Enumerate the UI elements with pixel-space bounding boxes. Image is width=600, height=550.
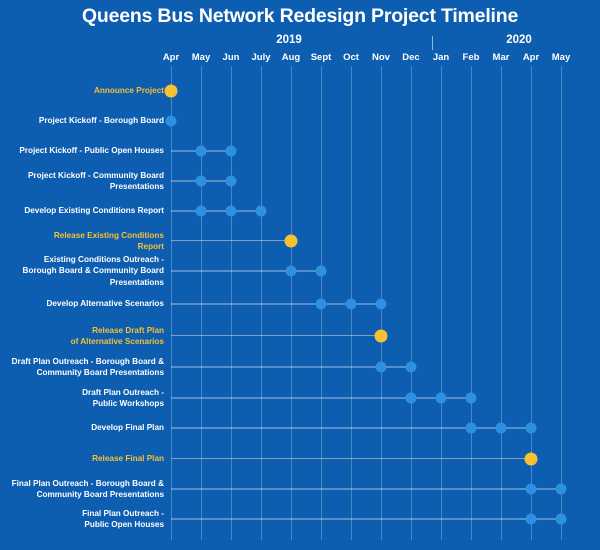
gridline-13 — [561, 66, 562, 540]
year-label-2020: 2020 — [506, 34, 532, 46]
row-connector — [171, 240, 291, 241]
row-connector — [171, 397, 471, 399]
gridline-12 — [531, 66, 532, 540]
task-dot[interactable] — [196, 146, 207, 157]
task-dot[interactable] — [526, 484, 537, 495]
task-dot[interactable] — [166, 116, 177, 127]
row-label: Draft Plan Outreach - Borough Board & Co… — [12, 356, 164, 379]
timeline-chart: Queens Bus Network Redesign Project Time… — [0, 0, 600, 550]
month-label-0: Apr — [163, 52, 179, 63]
task-dot[interactable] — [376, 362, 387, 373]
task-dot[interactable] — [556, 514, 567, 525]
year-label-2019: 2019 — [276, 34, 302, 46]
month-label-4: Aug — [282, 52, 300, 63]
row-connector — [171, 270, 321, 272]
task-dot[interactable] — [466, 423, 477, 434]
year-divider — [432, 36, 433, 50]
row-label: Develop Alternative Scenarios — [46, 298, 164, 310]
row-label: Final Plan Outreach - Public Open Houses — [82, 508, 164, 531]
row-label: Project Kickoff - Public Open Houses — [19, 145, 164, 157]
task-dot[interactable] — [376, 299, 387, 310]
row-connector — [171, 210, 261, 212]
task-dot[interactable] — [466, 393, 477, 404]
month-label-13: May — [552, 52, 570, 63]
task-dot[interactable] — [406, 362, 417, 373]
row-label: Release Existing Conditions Report — [54, 230, 164, 253]
gridline-8 — [411, 66, 412, 540]
milestone-dot[interactable] — [285, 235, 298, 248]
milestone-dot[interactable] — [165, 85, 178, 98]
task-dot[interactable] — [196, 206, 207, 217]
task-dot[interactable] — [436, 393, 447, 404]
row-label: Announce Project — [94, 85, 164, 97]
month-label-11: Mar — [493, 52, 510, 63]
task-dot[interactable] — [226, 176, 237, 187]
row-label: Project Kickoff - Community Board Presen… — [28, 170, 164, 193]
task-dot[interactable] — [406, 393, 417, 404]
row-label: Existing Conditions Outreach - Borough B… — [23, 254, 164, 289]
row-connector — [171, 427, 531, 429]
month-label-12: Apr — [523, 52, 539, 63]
task-dot[interactable] — [256, 206, 267, 217]
row-label: Release Final Plan — [92, 453, 164, 465]
task-dot[interactable] — [226, 146, 237, 157]
task-dot[interactable] — [226, 206, 237, 217]
chart-title: Queens Bus Network Redesign Project Time… — [0, 5, 600, 28]
row-connector — [171, 458, 531, 459]
month-label-2: Jun — [223, 52, 240, 63]
task-dot[interactable] — [526, 423, 537, 434]
milestone-dot[interactable] — [375, 330, 388, 343]
task-dot[interactable] — [316, 299, 327, 310]
task-dot[interactable] — [286, 266, 297, 277]
task-dot[interactable] — [196, 176, 207, 187]
task-dot[interactable] — [496, 423, 507, 434]
row-label: Project Kickoff - Borough Board — [39, 115, 164, 127]
row-label: Develop Final Plan — [91, 422, 164, 434]
row-label: Draft Plan Outreach - Public Workshops — [82, 387, 164, 410]
row-label: Develop Existing Conditions Report — [24, 205, 164, 217]
month-label-10: Feb — [463, 52, 480, 63]
row-label: Final Plan Outreach - Borough Board & Co… — [12, 478, 164, 501]
gridline-9 — [441, 66, 442, 540]
task-dot[interactable] — [556, 484, 567, 495]
row-connector — [171, 335, 381, 336]
month-label-9: Jan — [433, 52, 449, 63]
row-connector — [171, 518, 561, 520]
row-label: Release Draft Plan of Alternative Scenar… — [71, 325, 164, 348]
milestone-dot[interactable] — [525, 453, 538, 466]
month-label-1: May — [192, 52, 210, 63]
month-label-7: Nov — [372, 52, 390, 63]
month-label-6: Oct — [343, 52, 359, 63]
month-label-5: Sept — [311, 52, 332, 63]
task-dot[interactable] — [346, 299, 357, 310]
gridline-10 — [471, 66, 472, 540]
gridline-11 — [501, 66, 502, 540]
month-label-8: Dec — [402, 52, 419, 63]
row-connector — [171, 488, 561, 490]
task-dot[interactable] — [526, 514, 537, 525]
task-dot[interactable] — [316, 266, 327, 277]
month-label-3: July — [251, 52, 270, 63]
